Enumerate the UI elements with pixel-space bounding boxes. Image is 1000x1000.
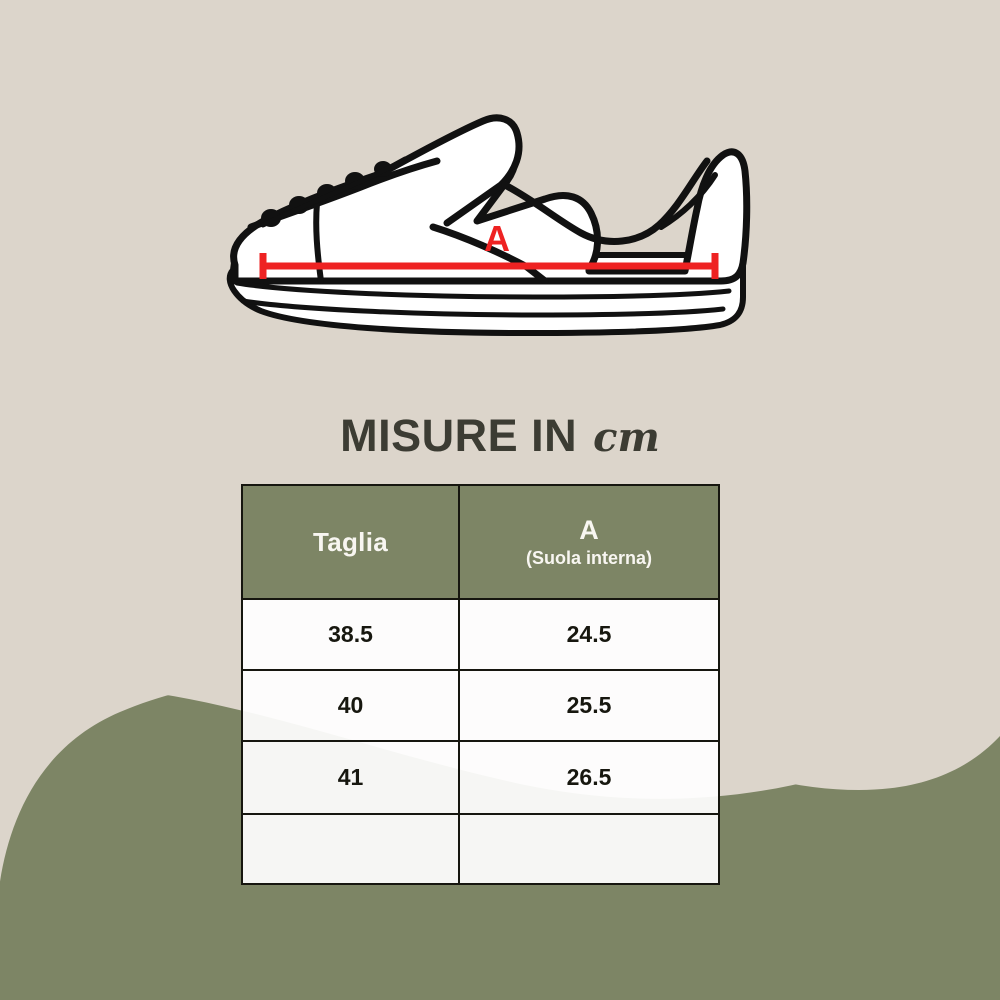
cell-a: 26.5 [459,741,719,814]
column-header-size-label: Taglia [313,527,388,557]
measure-label-a: A [484,218,510,259]
table-head: Taglia A (Suola interna) [242,485,719,599]
cell-size: 40 [242,670,459,741]
cell-size: 38.5 [242,599,459,670]
table-row: 41 26.5 [242,741,719,814]
table-row: 38.5 24.5 [242,599,719,670]
table-row: 40 25.5 [242,670,719,741]
cell-a: 25.5 [459,670,719,741]
page-title: MISURE IN cm [0,404,1000,466]
cell-a: 24.5 [459,599,719,670]
table-body: 38.5 24.5 40 25.5 41 26.5 [242,599,719,884]
column-header-size: Taglia [242,485,459,599]
size-chart-canvas: A MISURE IN cm Taglia A (Suola interna) [0,0,1000,1000]
column-header-a-sublabel: (Suola interna) [460,549,718,568]
column-header-a-label: A [460,516,718,544]
cell-a [459,814,719,884]
table-row-empty [242,814,719,884]
column-header-a: A (Suola interna) [459,485,719,599]
page-title-main: MISURE IN [340,413,577,458]
page-title-unit: cm [593,418,660,458]
table-header-row: Taglia A (Suola interna) [242,485,719,599]
cell-size: 41 [242,741,459,814]
cell-size [242,814,459,884]
size-chart-table: Taglia A (Suola interna) 38.5 24.5 40 25… [241,484,720,885]
sneaker-illustration: A [215,105,755,350]
